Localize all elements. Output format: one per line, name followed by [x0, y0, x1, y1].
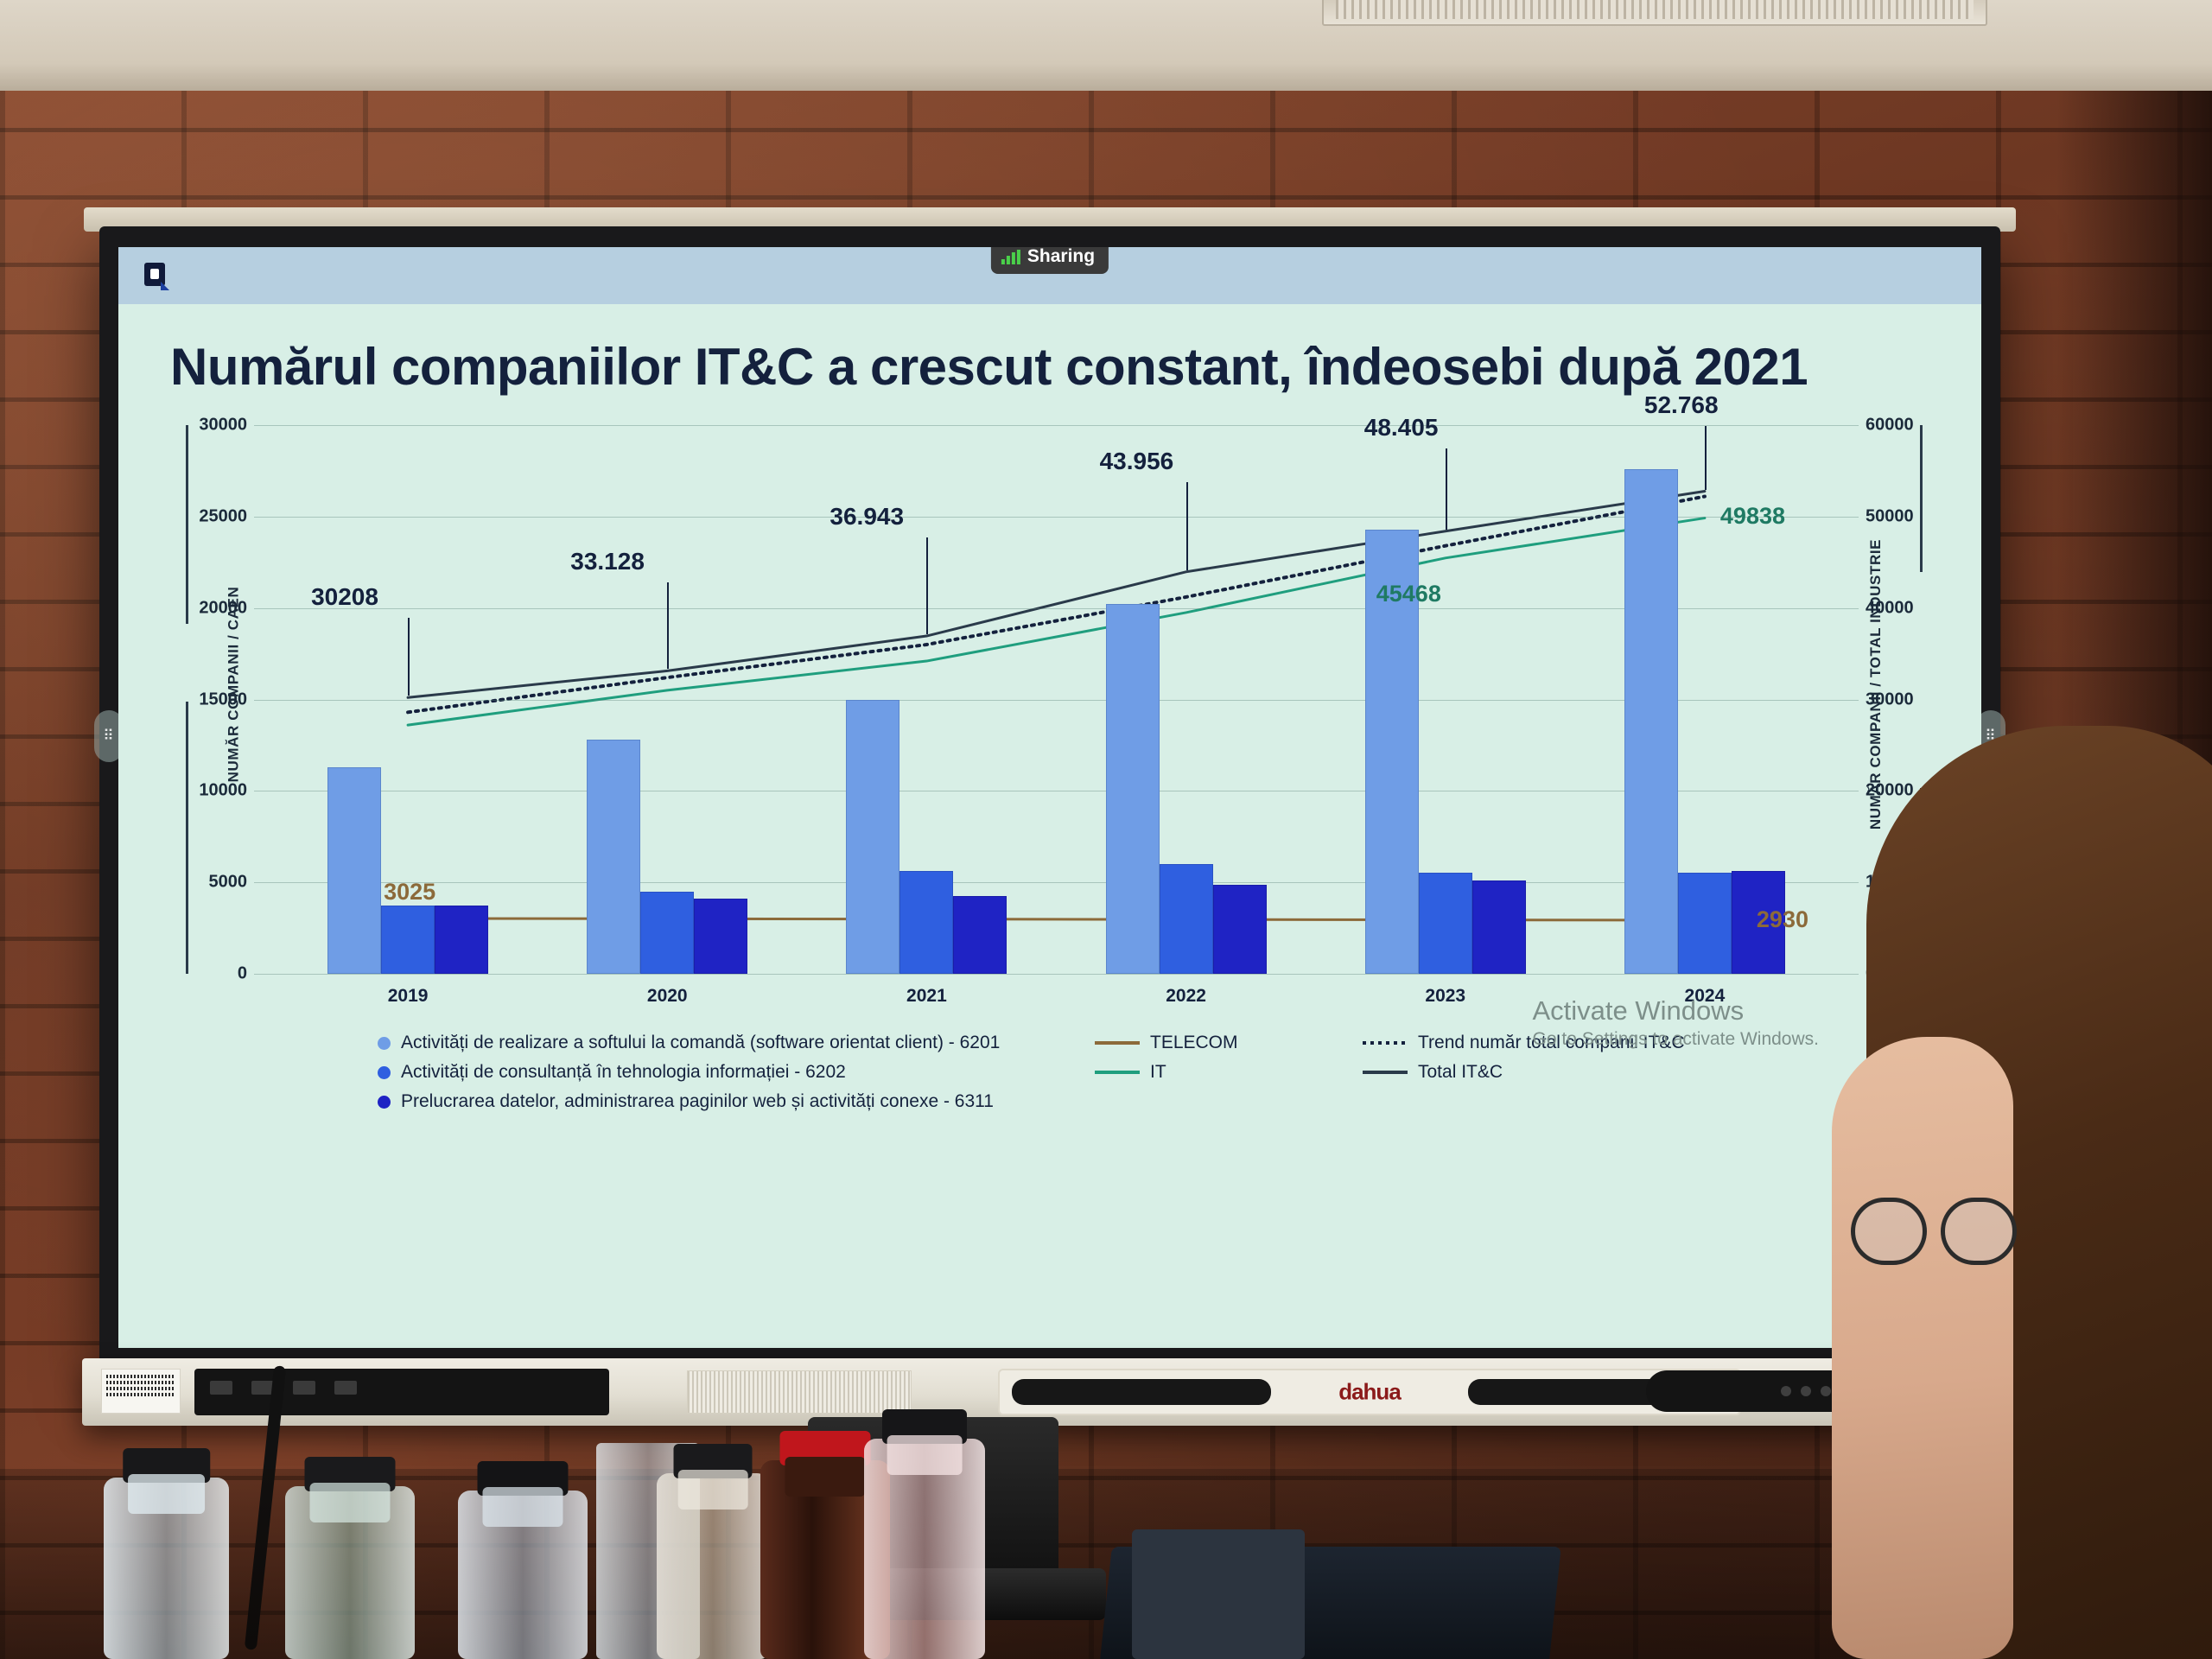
io-port-panel[interactable] [194, 1369, 609, 1415]
bar-6311-2019 [435, 906, 488, 974]
bottle [458, 1491, 588, 1659]
gridline [254, 425, 1859, 426]
y-axis-tick-left: 5000 [209, 873, 248, 893]
gridline [254, 974, 1859, 975]
y-axis-tick-left: 20000 [199, 598, 247, 618]
x-axis-tick-2023: 2023 [1425, 986, 1465, 1007]
legend-label: Activități de realizare a softului la co… [401, 1033, 1000, 1053]
y-axis-tick-left: 25000 [199, 506, 247, 526]
signal-bars-icon [1001, 250, 1020, 264]
legend-item[interactable]: Activități de consultanță în tehnologia … [378, 1058, 1000, 1087]
bar-6201-2020 [587, 740, 640, 974]
app-topbar: Sharing [118, 247, 1981, 304]
gridline [254, 791, 1859, 791]
y-axis-tick-left: 15000 [199, 690, 247, 709]
data-label-total-2019: 30208 [311, 583, 378, 611]
left-axis-rule-bottom [186, 702, 188, 974]
presentation-slide: Numărul companiilor IT&C a crescut const… [118, 304, 1981, 1348]
product-sticker [101, 1369, 181, 1414]
bar-6201-2024 [1624, 469, 1678, 974]
bottle-neck [310, 1483, 391, 1522]
legend-item[interactable]: Total IT&C [1363, 1058, 1685, 1087]
chart: NUMĂR COMPANII / CAEN NUMĂR COMPANII / T… [170, 416, 1938, 1013]
bottle-neck [483, 1487, 563, 1527]
bottle-neck [887, 1435, 963, 1475]
bar-6311-2022 [1213, 885, 1267, 974]
windows-activation-watermark: Activate Windows Go to Settings to activ… [1533, 995, 1820, 1050]
brand-logo-strip: dahua [998, 1369, 1741, 1415]
legend-line-icon [1363, 1071, 1408, 1074]
gridline [254, 517, 1859, 518]
legend-column-caen: Activități de realizare a softului la co… [378, 1028, 1000, 1116]
bar-6311-2023 [1472, 880, 1526, 974]
bottle [657, 1473, 769, 1659]
watermark-subtitle: Go to Settings to activate Windows. [1533, 1029, 1820, 1050]
y-axis-tick-left: 10000 [199, 781, 247, 801]
gridline [254, 608, 1859, 609]
pen-tray-left[interactable] [1012, 1379, 1271, 1405]
annotation-leader-line [1705, 426, 1707, 490]
legend-dot-icon [378, 1066, 391, 1079]
gridline [254, 882, 1859, 883]
x-axis-tick-2021: 2021 [906, 986, 947, 1007]
x-axis-tick-2019: 2019 [388, 986, 429, 1007]
x-axis-tick-2020: 2020 [647, 986, 688, 1007]
gridline [254, 700, 1859, 701]
ceiling [0, 0, 2212, 91]
legend-label: Total IT&C [1418, 1062, 1503, 1083]
annotation-leader-line [408, 618, 410, 696]
data-label-total-2022: 43.956 [1100, 448, 1174, 475]
annotation-leader-line [1186, 482, 1188, 570]
ceiling-vent [1322, 0, 1987, 26]
legend-line-icon [1095, 1041, 1140, 1045]
data-label-total-2021: 36.943 [829, 503, 904, 531]
sharing-label: Sharing [1027, 247, 1095, 267]
bar-6202-2020 [640, 892, 694, 974]
annotation-leader-line [926, 537, 928, 634]
handle-dots-icon: ⠿ [103, 733, 114, 740]
data-label-it: 45468 [1376, 581, 1441, 607]
speaker-grille [687, 1370, 912, 1414]
legend-item[interactable]: TELECOM [1095, 1028, 1238, 1058]
bottle [104, 1478, 229, 1659]
bar-6202-2022 [1160, 864, 1213, 974]
data-label-total-2020: 33.128 [570, 548, 645, 575]
display-screen[interactable]: Sharing Numărul companiilor IT&C a cresc… [118, 247, 1981, 1348]
bottle-neck [785, 1457, 866, 1497]
bar-6201-2022 [1106, 604, 1160, 974]
right-axis-rule-top [1920, 425, 1923, 572]
laptop-screen[interactable] [1132, 1529, 1305, 1659]
lens-left [1851, 1198, 1927, 1265]
brand-label: dahua [1338, 1379, 1401, 1406]
data-label-it: 49838 [1720, 503, 1785, 530]
bottle [285, 1486, 415, 1659]
face [1832, 1037, 2013, 1659]
legend-dot-icon [378, 1037, 391, 1050]
legend-item[interactable]: Prelucrarea datelor, administrarea pagin… [378, 1087, 1000, 1116]
legend-column-lines: TELECOM IT [1095, 1028, 1238, 1087]
data-label-telecom: 3025 [384, 879, 435, 906]
bar-6201-2021 [846, 700, 899, 975]
data-label-telecom: 2930 [1757, 906, 1808, 933]
bar-6311-2020 [694, 899, 747, 974]
interactive-display[interactable]: ⠿ ⠿ Sharing Numărul companiilor IT&C a c… [99, 226, 2000, 1367]
bottle-neck [678, 1470, 748, 1510]
legend-label: TELECOM [1150, 1033, 1238, 1053]
legend-item[interactable]: IT [1095, 1058, 1238, 1087]
y-axis-tick-right: 60000 [1866, 416, 1914, 435]
data-label-total-2023: 48.405 [1364, 414, 1439, 442]
app-logo-icon[interactable] [143, 261, 174, 292]
line-series [408, 492, 1705, 698]
page-title: Numărul companiilor IT&C a crescut const… [170, 337, 1808, 397]
bar-6202-2019 [381, 906, 435, 974]
annotation-leader-line [1446, 448, 1447, 530]
bottle-neck [128, 1474, 206, 1514]
bar-6202-2023 [1419, 873, 1472, 974]
display-bottom-bezel: dahua [82, 1358, 2018, 1426]
data-label-total-2024: 52.768 [1644, 391, 1719, 419]
y-axis-tick-right: 40000 [1866, 598, 1914, 618]
plot-area: 0050001000010000200001500030000200004000… [278, 425, 1834, 974]
y-axis-tick-left: 30000 [199, 416, 247, 435]
lens-right [1941, 1198, 2017, 1265]
y-axis-tick-right: 30000 [1866, 690, 1914, 709]
glasses [1851, 1198, 2015, 1270]
legend-label: Prelucrarea datelor, administrarea pagin… [401, 1091, 994, 1112]
legend-item[interactable]: Activități de realizare a softului la co… [378, 1028, 1000, 1058]
watermark-title: Activate Windows [1533, 995, 1820, 1027]
left-axis-rule-top [186, 425, 188, 624]
legend-dot-icon [378, 1096, 391, 1109]
bar-6311-2021 [953, 896, 1007, 974]
legend-label: IT [1150, 1062, 1166, 1083]
bar-6201-2019 [327, 767, 381, 974]
bar-6202-2024 [1678, 873, 1732, 974]
y-axis-tick-left: 0 [238, 964, 247, 984]
legend-line-icon [1095, 1071, 1140, 1074]
ceiling-vent-grille [1336, 0, 1974, 19]
bottle [864, 1439, 985, 1659]
annotation-leader-line [667, 582, 669, 669]
bar-6202-2021 [899, 871, 953, 974]
x-axis-tick-2022: 2022 [1166, 986, 1206, 1007]
legend-dotted-line-icon [1363, 1041, 1408, 1045]
y-axis-tick-right: 50000 [1866, 506, 1914, 526]
sharing-badge[interactable]: Sharing [991, 247, 1109, 274]
person [1806, 709, 2212, 1659]
legend-label: Activități de consultanță în tehnologia … [401, 1062, 846, 1083]
